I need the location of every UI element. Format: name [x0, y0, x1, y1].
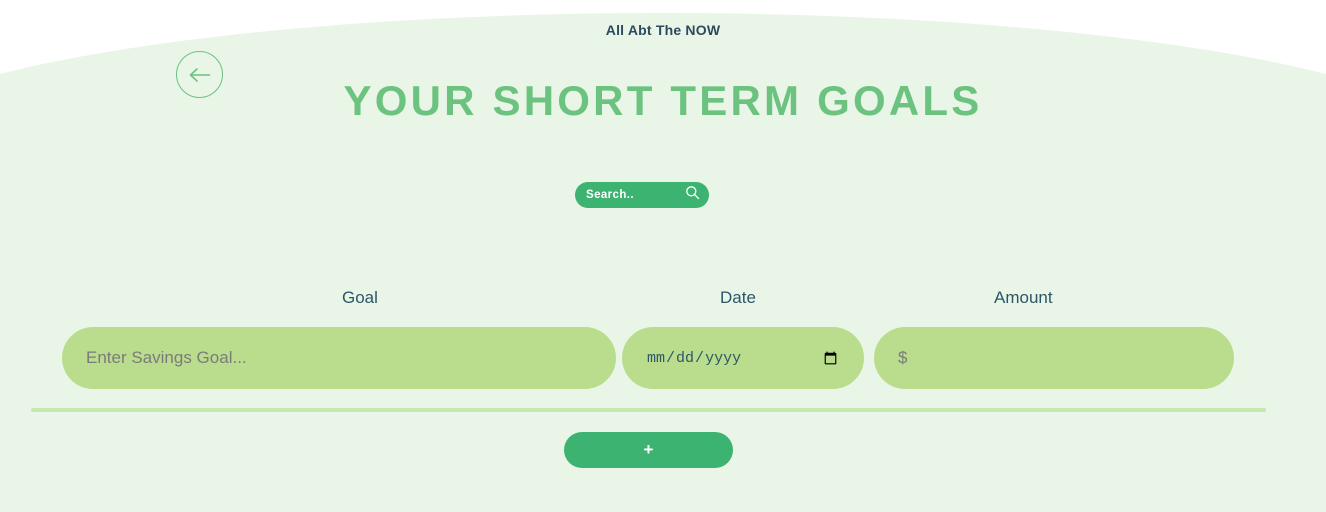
- add-goal-button[interactable]: +: [564, 432, 733, 468]
- column-label-amount: Amount: [994, 288, 1053, 308]
- goal-entry-row: [0, 327, 1326, 389]
- amount-input[interactable]: [874, 327, 1234, 389]
- goal-input[interactable]: [62, 327, 616, 389]
- column-label-goal: Goal: [342, 288, 378, 308]
- goals-page: All Abt The NOW YOUR SHORT TERM GOALS Go…: [0, 0, 1326, 512]
- back-button[interactable]: [176, 51, 223, 98]
- search-icon[interactable]: [685, 185, 700, 205]
- arrow-left-icon: [188, 67, 212, 83]
- date-input[interactable]: [622, 327, 864, 389]
- column-labels-row: Goal Date Amount: [31, 288, 1267, 312]
- app-name-kicker: All Abt The NOW: [0, 22, 1326, 38]
- search-input[interactable]: [586, 189, 681, 201]
- section-divider: [31, 408, 1266, 412]
- column-label-date: Date: [720, 288, 756, 308]
- search-box[interactable]: [575, 182, 709, 208]
